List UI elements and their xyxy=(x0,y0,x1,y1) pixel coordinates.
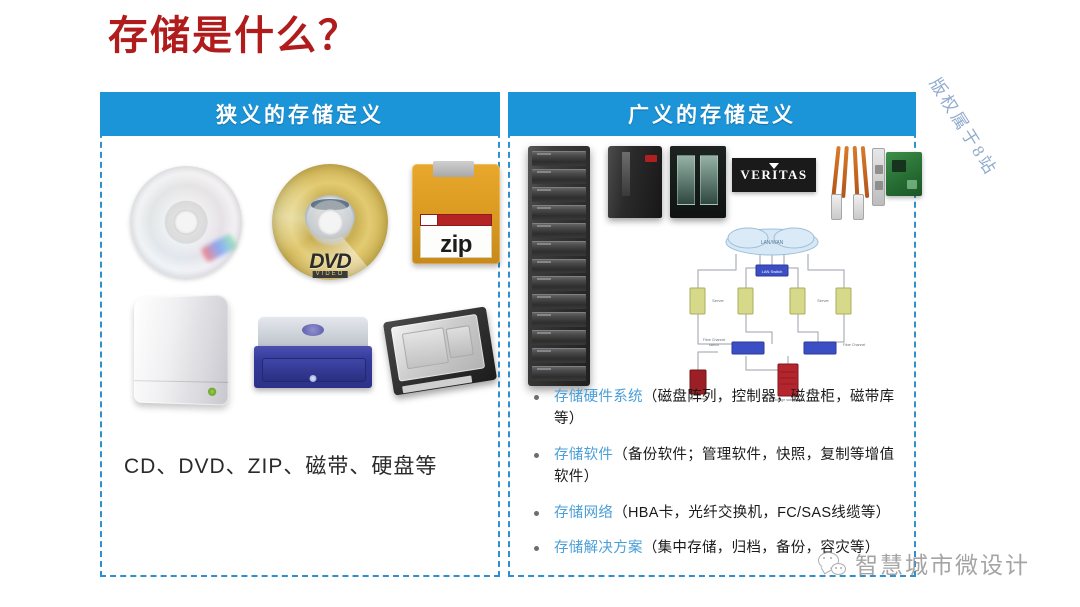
rack-slot xyxy=(532,259,586,274)
external-drive-seam xyxy=(134,380,229,383)
rack-slot xyxy=(532,169,586,184)
bullet-dot-icon xyxy=(534,511,539,516)
rack-slot xyxy=(532,187,586,202)
svg-text:LAN/WAN: LAN/WAN xyxy=(761,240,784,246)
panel-right-header: 广义的存储定义 xyxy=(508,92,916,136)
list-item: 存储硬件系统（磁盘阵列，控制器，磁盘柜，磁带库等） xyxy=(524,386,904,431)
fiber-cord xyxy=(853,146,860,198)
rack-slot xyxy=(532,348,586,363)
storage-scope-bullet-list: 存储硬件系统（磁盘阵列，控制器，磁盘柜，磁带库等） 存储软件（备份软件；管理软件… xyxy=(524,386,904,573)
bullet-text: 存储网络（HBA卡，光纤交换机，FC/SAS线缆等） xyxy=(554,505,891,521)
zip-disk-icon: zip xyxy=(412,164,500,264)
brand-watermark: 智慧城市微设计 xyxy=(818,546,1030,580)
rack-slot xyxy=(532,205,586,220)
bullet-text: 存储软件（备份软件；管理软件，快照，复制等增值软件） xyxy=(554,447,894,485)
hard-disk-icon xyxy=(383,306,497,395)
wechat-eye xyxy=(840,567,842,569)
left-panel-caption: CD、DVD、ZIP、磁带、硬盘等 xyxy=(124,450,437,480)
bullet-keyword: 存储软件 xyxy=(554,447,613,463)
dvd-disc-sublabel: VIDEO xyxy=(313,271,348,278)
fiber-connector xyxy=(831,194,842,220)
svg-text:Server: Server xyxy=(817,298,829,303)
cabinet-glass-door xyxy=(677,155,695,205)
bullet-dot-icon xyxy=(534,395,539,400)
bullet-dot-icon xyxy=(534,453,539,458)
rack-slot xyxy=(532,223,586,238)
bullet-keyword: 存储解决方案 xyxy=(554,540,643,556)
hba-card-bracket xyxy=(872,148,885,206)
svg-text:LAN Switch: LAN Switch xyxy=(762,269,783,274)
wechat-bubble-small xyxy=(831,563,846,575)
rack-slot xyxy=(532,312,586,327)
panel-right-body: VERITAS xyxy=(510,138,914,575)
panel-right-header-label: 广义的存储定义 xyxy=(628,99,796,129)
panel-left-header-label: 狭义的存储定义 xyxy=(216,99,384,129)
dvd-hub-art xyxy=(305,195,355,239)
external-drive-icon xyxy=(134,294,229,405)
wechat-eye xyxy=(835,567,837,569)
cd-spectrum-sheen xyxy=(200,233,238,263)
page-title: 存储是什么？ xyxy=(108,12,360,60)
slide-canvas: 存储是什么？ 狭义的存储定义 DVD VIDEO zip xyxy=(0,0,1080,607)
tape-drive-icon xyxy=(254,316,372,388)
rack-slot xyxy=(532,330,586,345)
svg-text:Fibre Channel: Fibre Channel xyxy=(703,338,726,342)
bullet-detail: （HBA卡，光纤交换机，FC/SAS线缆等） xyxy=(613,505,890,521)
disk-array-rack-icon xyxy=(528,146,590,386)
svg-text:Fibre Channel: Fibre Channel xyxy=(843,343,866,347)
san-topology-diagram: LAN/WAN LAN Switch Server Server Fibre C… xyxy=(668,224,878,402)
svg-text:Server: Server xyxy=(712,298,724,303)
fiber-optic-cable-icon xyxy=(828,146,872,224)
panel-narrow-definition: 狭义的存储定义 DVD VIDEO zip xyxy=(100,92,500,577)
rack-slot xyxy=(532,241,586,256)
rack-slot xyxy=(532,294,586,309)
bullet-dot-icon xyxy=(534,546,539,551)
bullet-keyword: 存储硬件系统 xyxy=(554,389,643,405)
brand-watermark-text: 智慧城市微设计 xyxy=(855,546,1030,580)
rack-slot xyxy=(532,151,586,166)
server-tower-badge xyxy=(645,155,657,162)
hba-card-pcb xyxy=(886,152,922,196)
fiber-cord xyxy=(831,146,840,198)
drive-media-row xyxy=(102,288,498,408)
list-item: 存储网络（HBA卡，光纤交换机，FC/SAS线缆等） xyxy=(524,502,904,524)
wechat-icon xyxy=(818,552,846,574)
bullet-text: 存储硬件系统（磁盘阵列，控制器，磁盘柜，磁带库等） xyxy=(554,389,894,427)
san-diagram-svg: LAN/WAN LAN Switch Server Server Fibre C… xyxy=(668,224,878,402)
server-tower-icon xyxy=(608,146,662,218)
cabinet-glass-door xyxy=(700,155,718,205)
fiber-cord xyxy=(841,146,849,198)
list-item: 存储软件（备份软件；管理软件，快照，复制等增值软件） xyxy=(524,444,904,489)
zip-disk-word: zip xyxy=(440,232,472,257)
svg-text:switch: switch xyxy=(709,343,719,347)
veritas-logo-text: VERITAS xyxy=(740,167,807,183)
fiber-connector xyxy=(853,194,864,220)
dvd-disc-icon: DVD VIDEO xyxy=(272,164,388,280)
tape-drive-front xyxy=(254,346,372,388)
rack-slot xyxy=(532,276,586,291)
panel-left-header: 狭义的存储定义 xyxy=(100,92,500,136)
zip-disk-stripe xyxy=(420,214,492,226)
fiber-cord xyxy=(861,146,870,198)
copyright-watermark: 版权属于8站 xyxy=(925,72,1005,180)
optical-media-row: DVD VIDEO zip xyxy=(102,158,498,283)
dvd-disc-label: DVD xyxy=(309,251,350,272)
tape-drive-top xyxy=(258,316,368,350)
hba-card-icon xyxy=(870,148,922,210)
cd-disc-icon xyxy=(130,166,242,278)
rack-slot xyxy=(532,366,586,381)
tape-library-cabinet-icon xyxy=(670,146,726,218)
panel-left-body: DVD VIDEO zip xyxy=(102,138,498,575)
veritas-logo: VERITAS xyxy=(732,158,816,192)
bullet-keyword: 存储网络 xyxy=(554,505,613,521)
panel-broad-definition: 广义的存储定义 xyxy=(508,92,916,577)
